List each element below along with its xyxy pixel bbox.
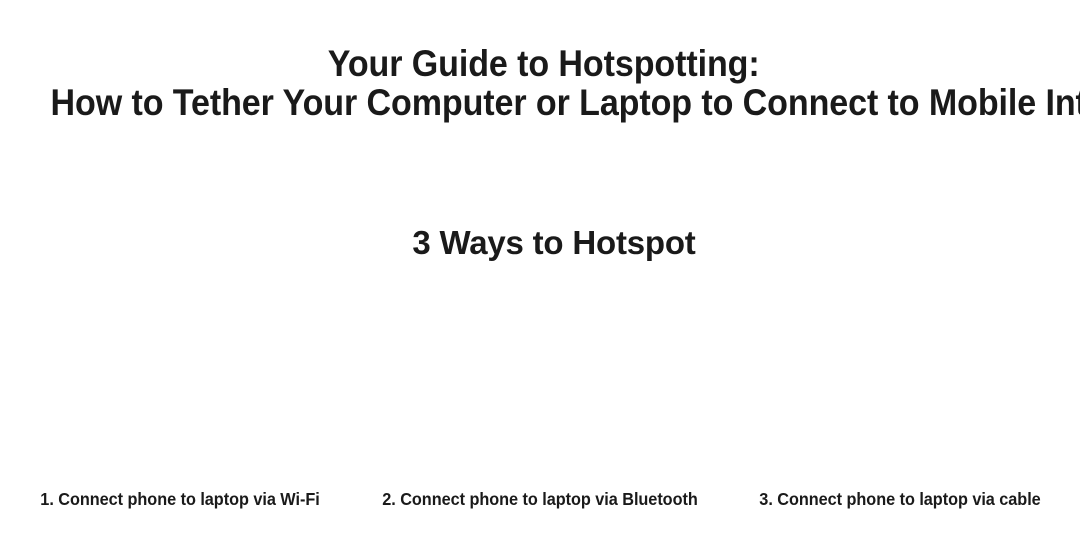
page-title-line-2: How to Tether Your Computer or Laptop to… <box>43 83 1037 122</box>
illustration-slot-cable <box>720 278 1080 474</box>
infographic-page: Your Guide to Hotspotting: How to Tether… <box>0 0 1080 552</box>
step-label-bluetooth: 2. Connect phone to laptop via Bluetooth <box>373 488 708 510</box>
page-title-line-1: Your Guide to Hotspotting: <box>43 44 1037 83</box>
step-label-cable: 3. Connect phone to laptop via cable <box>733 488 1068 510</box>
illustration-slot-bluetooth <box>360 278 720 474</box>
section-heading: 3 Ways to Hotspot <box>0 224 1080 262</box>
step-label-wifi: 1. Connect phone to laptop via Wi-Fi <box>13 488 348 510</box>
steps-row: 1. Connect phone to laptop via Wi-Fi 2. … <box>0 488 1080 510</box>
illustration-slot-wifi <box>0 278 360 474</box>
illustration-band <box>0 278 1080 474</box>
page-title: Your Guide to Hotspotting: How to Tether… <box>0 44 1080 122</box>
